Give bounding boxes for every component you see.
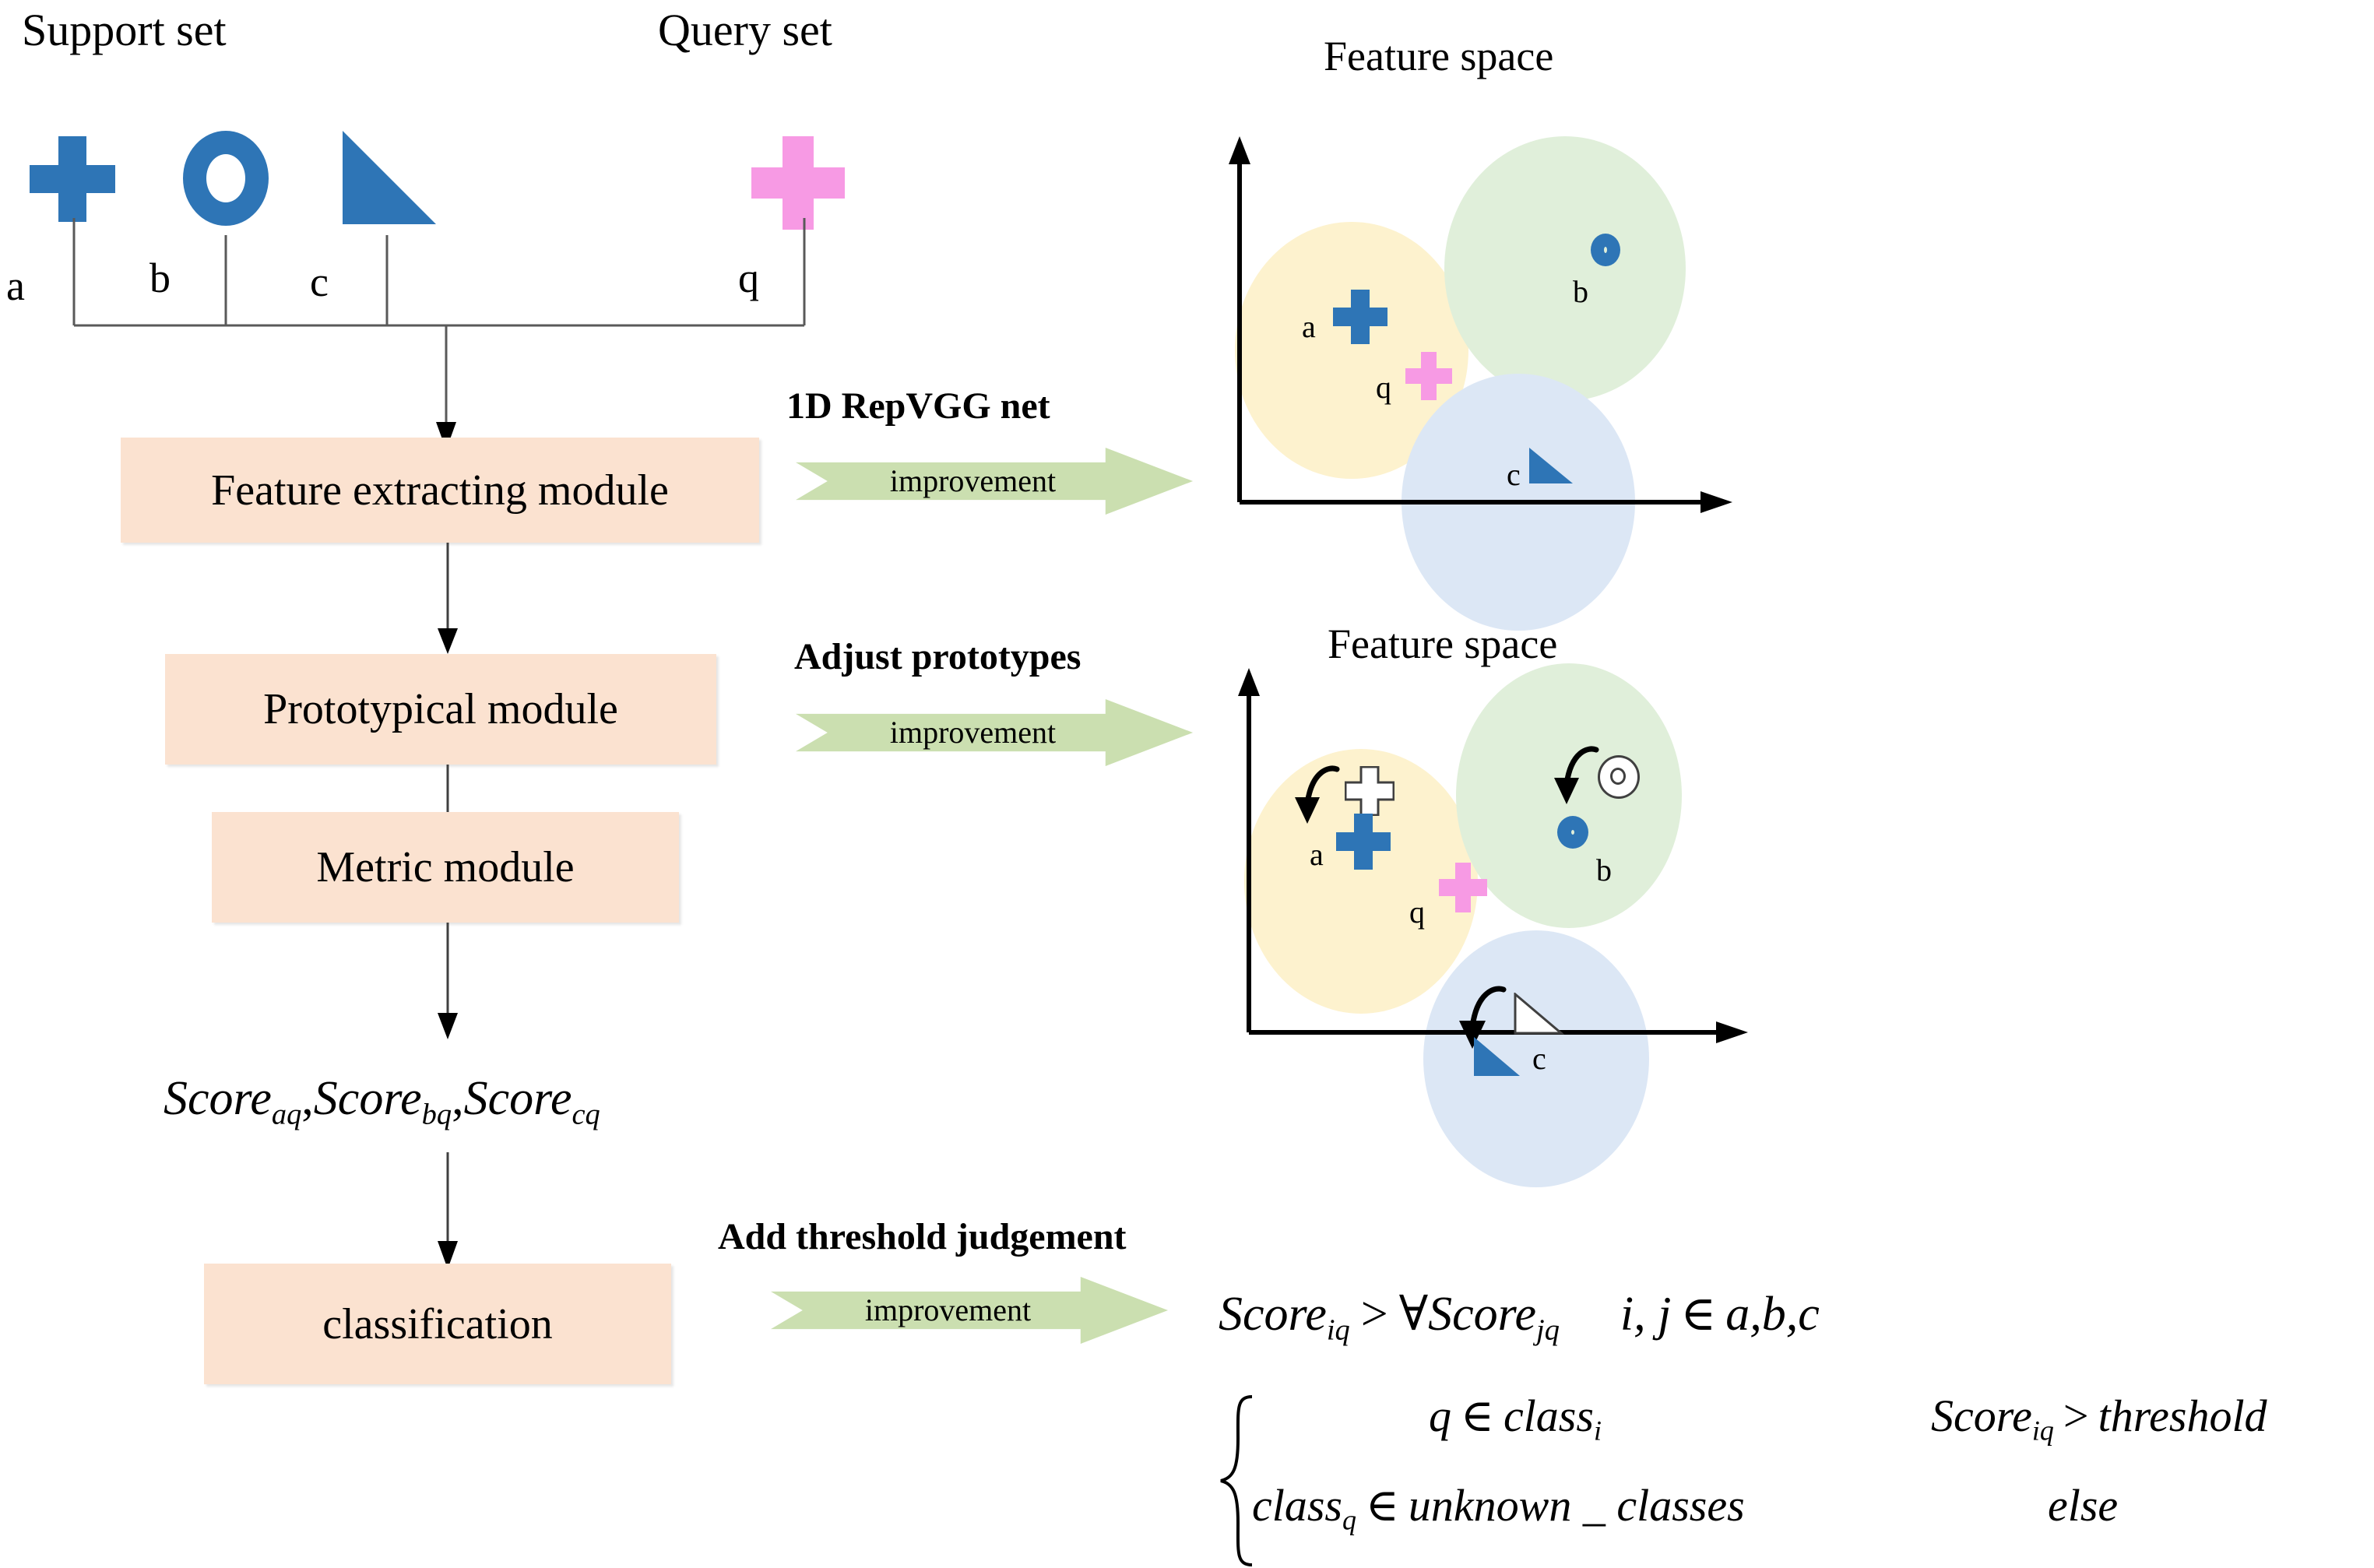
improvement-arrow-label: improvement [890, 466, 1056, 497]
prototype-hollow-ring-inner-b [1610, 768, 1626, 785]
query-cross-icon-2 [1439, 863, 1487, 912]
cluster-label-a: a [1302, 311, 1316, 343]
improvement-title-3: Add threshold judgement [718, 1218, 1127, 1256]
prototype-triangle-icon-c [1528, 448, 1576, 488]
query-label-q-2: q [1409, 897, 1425, 928]
prototype-cross-icon-a [1333, 290, 1387, 344]
formula-line-2-right: Scoreiq>threshold [1931, 1394, 2267, 1445]
pipeline-box-metric[interactable]: Metric module [212, 812, 679, 923]
pipeline-box-prototypical[interactable]: Prototypical module [165, 654, 716, 765]
sample-label-b: b [149, 257, 171, 299]
cluster-label-c: c [1507, 459, 1521, 490]
improvement-title-1: 1D RepVGG net [786, 388, 1050, 425]
improvement-arrow-3[interactable]: improvement [771, 1277, 1168, 1344]
improvement-arrow-label: improvement [865, 1295, 1031, 1326]
sample-label-c: c [310, 261, 329, 303]
cluster-label-b-2: b [1596, 855, 1612, 886]
query-cross-icon-1 [1405, 352, 1452, 400]
formula-line-2-left: q∈classi [1429, 1394, 1602, 1445]
pipeline-box-feature-extracting[interactable]: Feature extracting module [121, 438, 759, 543]
cluster-label-b: b [1573, 276, 1588, 308]
improvement-arrow-2[interactable]: improvement [796, 699, 1193, 766]
formula-line-3-right: else [2048, 1483, 2118, 1528]
score-row: Scoreaq,Scorebq,Scorecq [164, 1074, 600, 1130]
sample-label-a: a [6, 265, 25, 307]
feature-space-axes-1 [1222, 136, 1736, 533]
formula-class-q: classq [1252, 1480, 1356, 1531]
support-shape-cross-icon [30, 136, 115, 222]
cluster-label-a-2: a [1310, 839, 1324, 870]
sample-label-q: q [738, 257, 759, 299]
arrow-score-to-classification [424, 1152, 471, 1269]
formula-score-jq: Scorejq [1428, 1288, 1560, 1341]
query-shape-cross-icon [751, 136, 845, 230]
prototype-ring-icon-b [1591, 234, 1620, 266]
improvement-arrow-label: improvement [890, 717, 1056, 748]
score-bq-text: Scorebq [314, 1072, 452, 1125]
prototype-triangle-icon-c-2 [1472, 1035, 1523, 1081]
adjust-arrow-b [1548, 744, 1610, 814]
arrow-feature-to-prototypical [424, 543, 471, 654]
pipeline-box-label: Prototypical module [263, 687, 618, 731]
formula-cond-score-iq: Scoreiq [1931, 1390, 2054, 1441]
formula-line-1: Scoreiq>∀Scorejqi, j∈a,b,c [1219, 1290, 1820, 1345]
sample-bracket [0, 218, 895, 467]
pipeline-box-label: classification [322, 1303, 552, 1346]
query-label-q-1: q [1376, 372, 1391, 403]
pipeline-box-label: Metric module [316, 846, 574, 889]
score-cq-text: Scorecq [464, 1072, 600, 1125]
support-shape-triangle-icon [339, 131, 440, 228]
support-shape-ring-icon [183, 131, 269, 226]
query-set-title: Query set [658, 8, 832, 53]
prototype-hollow-cross-outline-a [1345, 766, 1395, 816]
feature-space-title-1: Feature space [1324, 35, 1553, 77]
prototype-hollow-triangle-icon-c [1513, 993, 1564, 1038]
formula-score-iq: Scoreiq [1219, 1288, 1350, 1341]
prototype-cross-icon-a-2 [1336, 814, 1391, 870]
formula-line-3-left: classq∈unknown _ classes [1252, 1483, 1745, 1535]
pipeline-box-label: Feature extracting module [211, 469, 669, 512]
support-set-title: Support set [22, 8, 227, 53]
pipeline-box-classification[interactable]: classification [204, 1264, 671, 1384]
improvement-title-2: Adjust prototypes [794, 638, 1081, 676]
prototype-ring-icon-b-2 [1557, 816, 1588, 849]
feature-space-title-2: Feature space [1328, 623, 1557, 665]
cluster-label-c-2: c [1532, 1043, 1546, 1074]
score-aq-text: Scoreaq [164, 1072, 301, 1125]
formula-class-i: classi [1504, 1390, 1602, 1441]
arrow-metric-to-score [424, 923, 471, 1039]
